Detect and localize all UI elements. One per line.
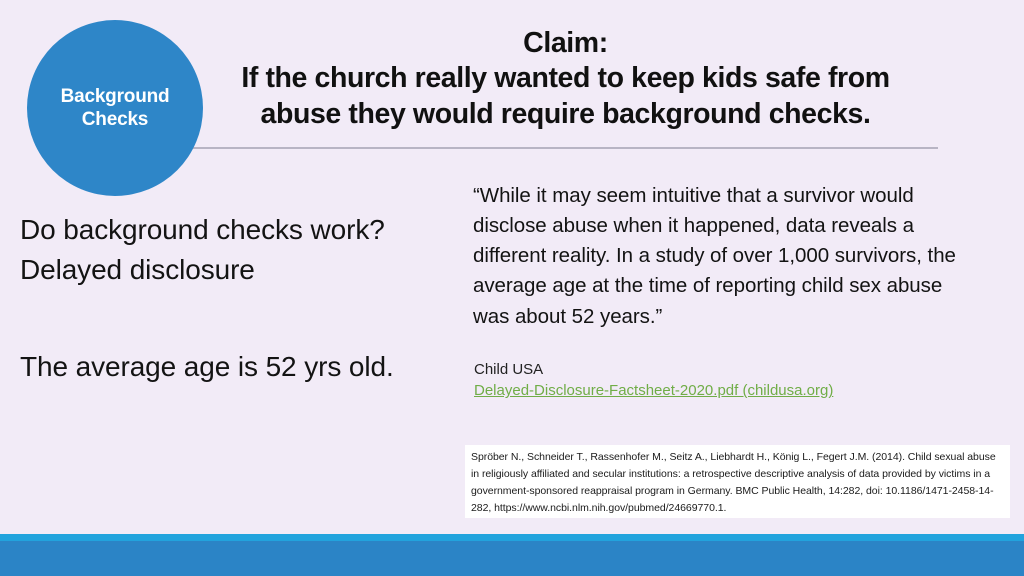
source-link[interactable]: Delayed-Disclosure-Factsheet-2020.pdf (c…: [474, 380, 833, 401]
title-line-1: If the church really wanted to keep kids…: [193, 61, 938, 96]
footer-accent-stripe: [0, 534, 1024, 541]
slide-canvas: Background Checks Claim: If the church r…: [0, 0, 1024, 576]
title-line-claim: Claim:: [193, 26, 938, 61]
source-organization: Child USA: [474, 359, 974, 380]
body-line-delayed-disclosure: Delayed disclosure: [20, 250, 460, 290]
citation-text: Spröber N., Schneider T., Rassenhofer M.…: [471, 449, 1002, 517]
body-line-question: Do background checks work?: [20, 210, 460, 250]
title-line-2: abuse they would require background chec…: [193, 97, 938, 132]
body-line-average-age: The average age is 52 yrs old.: [20, 347, 460, 387]
source-attribution: Child USA Delayed-Disclosure-Factsheet-2…: [474, 359, 974, 402]
quote-block: “While it may seem intuitive that a surv…: [473, 181, 973, 332]
quote-text: “While it may seem intuitive that a surv…: [473, 181, 973, 332]
citation-box: Spröber N., Schneider T., Rassenhofer M.…: [465, 445, 1010, 518]
badge-label: Background Checks: [61, 85, 170, 131]
left-body-text: Do background checks work? Delayed discl…: [20, 210, 460, 386]
slide-title: Claim: If the church really wanted to ke…: [193, 26, 938, 132]
footer-bar: [0, 541, 1024, 576]
background-checks-badge: Background Checks: [27, 20, 203, 196]
title-divider: [193, 147, 938, 149]
